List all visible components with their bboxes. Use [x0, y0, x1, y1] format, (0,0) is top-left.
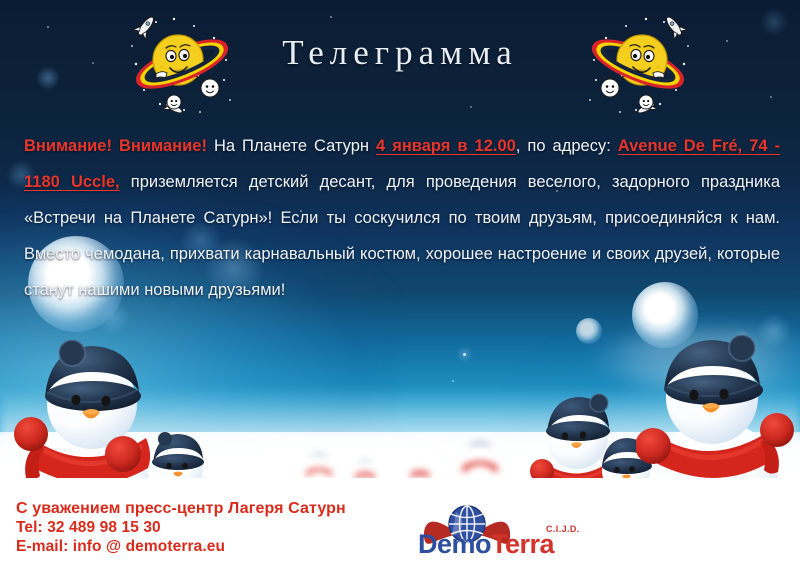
- logo-demo-text: Demo: [418, 529, 491, 559]
- telegram-poster: Телеграмма Внимание! Внимание! На Планет…: [0, 0, 800, 564]
- announcement-segment-1: На Планете Сатурн: [207, 137, 376, 155]
- page-title: Телеграмма: [250, 33, 550, 73]
- announcement-segment-3: приземляется детский десант, для проведе…: [24, 173, 780, 299]
- saturn-mascot-icon: [126, 12, 238, 122]
- logo-terra-text: Terra: [491, 529, 554, 559]
- announcement-segment-2: , по адресу:: [516, 137, 618, 155]
- saturn-mascot-icon: [582, 12, 694, 122]
- contact-phone: Tel: 32 489 98 15 30: [16, 518, 346, 537]
- demoterra-wordmark: DemoTerra: [418, 529, 554, 560]
- logo-cijd-text: C.I.J.D.: [546, 524, 580, 534]
- attention-text: Внимание! Внимание!: [24, 137, 207, 155]
- contact-block: С уважением пресс-центр Лагеря Сатурн Te…: [16, 499, 346, 556]
- demoterra-logo: DemoTerra C.I.J.D.: [418, 502, 608, 560]
- announcement-text: Внимание! Внимание! На Планете Сатурн 4 …: [24, 128, 780, 308]
- contact-email: E-mail: info @ demoterra.eu: [16, 537, 346, 556]
- contact-signature: С уважением пресс-центр Лагеря Сатурн: [16, 499, 346, 518]
- event-datetime: 4 января в 12.00: [376, 137, 516, 155]
